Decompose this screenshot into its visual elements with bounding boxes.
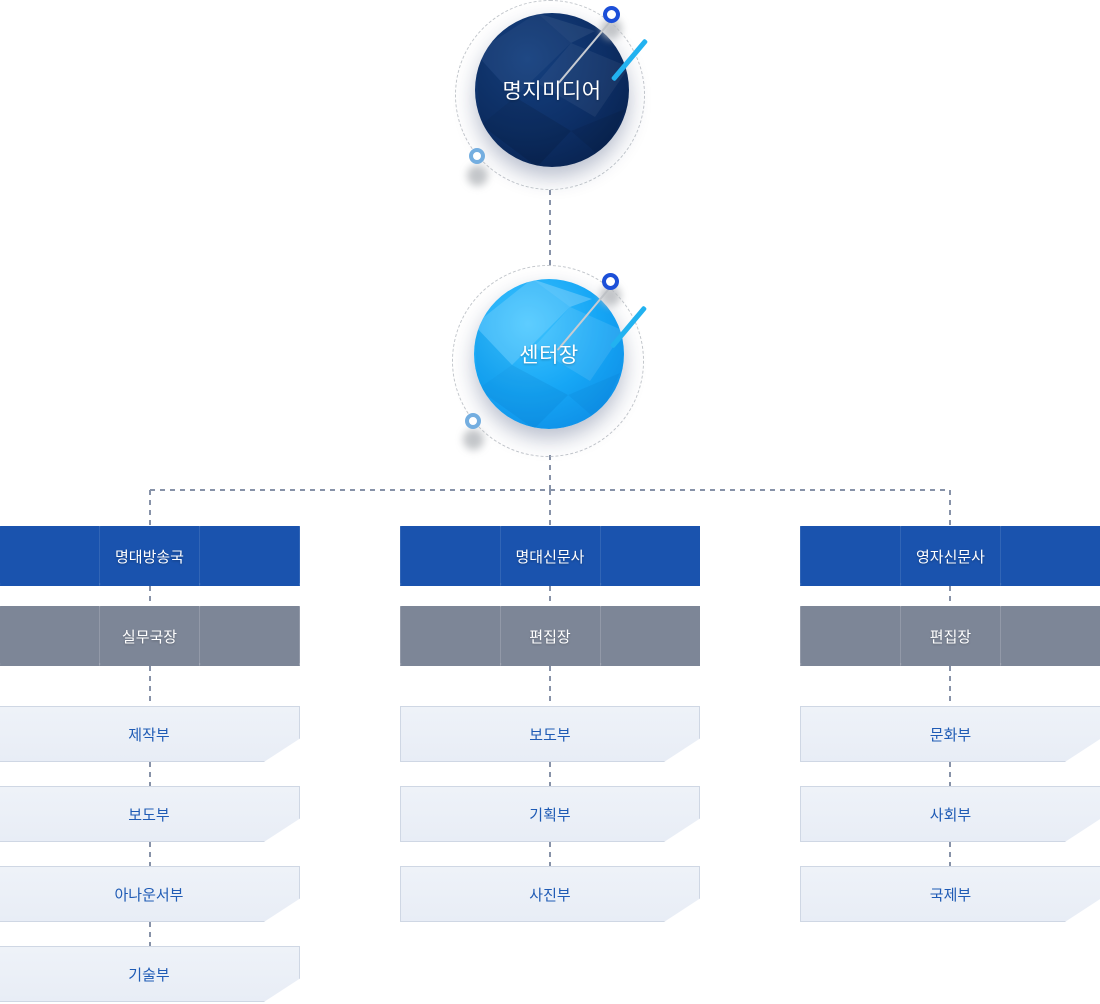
dept-header-broadcasting[interactable]: 명대방송국 [0,526,300,586]
root-ring-bottom-icon [469,148,485,164]
team-label: 기획부 [529,804,570,825]
team-box[interactable]: 국제부 [800,866,1100,922]
team-label: 보도부 [529,724,570,745]
team-box[interactable]: 아나운서부 [0,866,300,922]
team-box[interactable]: 사진부 [400,866,700,922]
dept-header-english-newspaper[interactable]: 영자신문사 [800,526,1100,586]
team-box[interactable]: 보도부 [0,786,300,842]
team-box[interactable]: 기획부 [400,786,700,842]
org-chart-root: 명지미디어 센터장 명대방송국 [0,0,1100,1004]
dept-header-newspaper[interactable]: 명대신문사 [400,526,700,586]
team-box[interactable]: 제작부 [0,706,300,762]
team-box[interactable]: 보도부 [400,706,700,762]
team-label: 아나운서부 [114,884,183,905]
section-head-english-newspaper[interactable]: 편집장 [800,606,1100,666]
center-dot-bottom-icon [463,429,484,450]
team-label: 사진부 [529,884,570,905]
team-label: 국제부 [930,884,971,905]
section-head-newspaper[interactable]: 편집장 [400,606,700,666]
team-label: 기술부 [128,964,169,985]
section-head-label: 실무국장 [122,626,177,647]
node-center[interactable]: 센터장 [452,265,644,457]
team-label: 제작부 [128,724,169,745]
root-label: 명지미디어 [502,75,601,105]
team-label: 문화부 [930,724,971,745]
section-head-label: 편집장 [930,626,971,647]
section-head-label: 편집장 [529,626,570,647]
dept-header-label: 명대신문사 [515,546,584,567]
dept-header-label: 명대방송국 [115,546,184,567]
center-label: 센터장 [519,339,578,369]
root-dot-bottom-icon [467,165,488,186]
team-label: 사회부 [930,804,971,825]
team-label: 보도부 [128,804,169,825]
root-ring-top-icon [603,6,620,23]
node-root[interactable]: 명지미디어 [455,0,645,190]
center-ring-top-icon [602,273,619,290]
center-ring-bottom-icon [465,413,481,429]
team-box[interactable]: 사회부 [800,786,1100,842]
dept-header-label: 영자신문사 [916,546,985,567]
team-box[interactable]: 기술부 [0,946,300,1002]
team-box[interactable]: 문화부 [800,706,1100,762]
section-head-broadcasting[interactable]: 실무국장 [0,606,300,666]
